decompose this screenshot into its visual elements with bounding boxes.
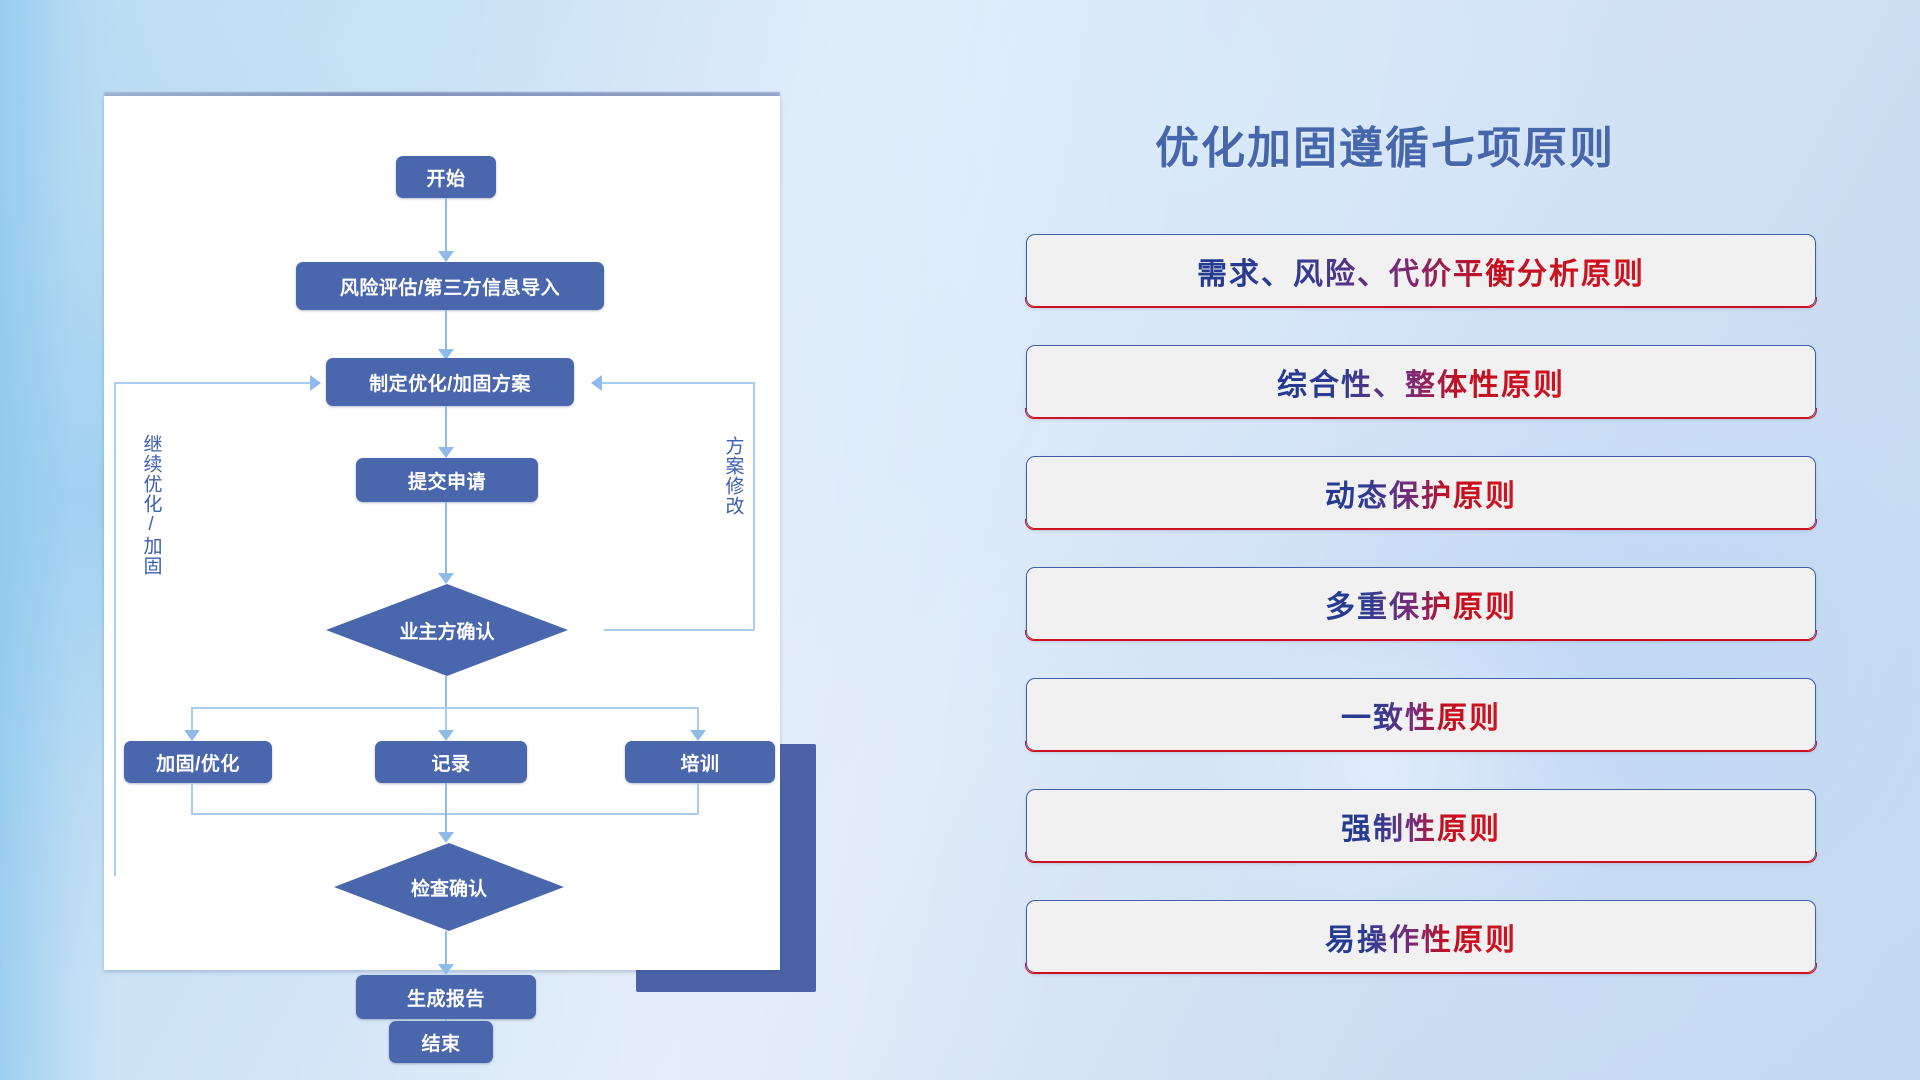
loop-right-vertical [753, 382, 755, 630]
node-record[interactable]: 记录 [375, 741, 527, 783]
principle-item-1[interactable]: 需求、风险、代价平衡分析原则 [1026, 234, 1816, 307]
principle-item-5[interactable]: 一致性原则 [1026, 678, 1816, 751]
principle-item-4[interactable]: 多重保护原则 [1026, 567, 1816, 640]
node-training[interactable]: 培训 [625, 741, 775, 783]
node-submit[interactable]: 提交申请 [356, 458, 538, 502]
arrowhead-down-3 [438, 447, 454, 458]
principle-item-3[interactable]: 动态保护原则 [1026, 456, 1816, 529]
arrowhead-down-4 [438, 573, 454, 584]
edge-submit-to-confirm [445, 502, 447, 580]
loop-right-bottom-horizontal [604, 629, 754, 631]
principle-label: 综合性、整体性原则 [1277, 360, 1565, 404]
panel-title: 优化加固遵循七项原则 [1155, 112, 1615, 176]
principle-label: 强制性原则 [1341, 804, 1501, 848]
merge-left-riser [191, 783, 193, 814]
principle-label: 易操作性原则 [1325, 915, 1517, 959]
principles-list: 需求、风险、代价平衡分析原则 综合性、整体性原则 动态保护原则 多重保护原则 一… [1026, 234, 1816, 1011]
node-start[interactable]: 开始 [396, 156, 496, 198]
node-plan[interactable]: 制定优化/加固方案 [326, 358, 574, 406]
arrowhead-down-branch-right [690, 730, 706, 741]
arrowhead-right-into-plan [310, 375, 321, 391]
edge-confirm-down [445, 676, 447, 708]
node-report[interactable]: 生成报告 [356, 975, 536, 1019]
loop-left-top-horizontal [114, 382, 310, 384]
edge-start-to-risk [445, 198, 447, 258]
flowchart-card: 开始 风险评估/第三方信息导入 制定优化/加固方案 继续优化/加固 方案修改 提… [104, 96, 780, 970]
merge-right-riser [697, 783, 699, 814]
node-owner-confirm[interactable]: 业主方确认 [326, 584, 568, 676]
arrowhead-down-branch-left [184, 730, 200, 741]
principle-item-2[interactable]: 综合性、整体性原则 [1026, 345, 1816, 418]
principle-label: 动态保护原则 [1325, 471, 1517, 515]
loop-right-top-horizontal [602, 382, 754, 384]
principle-label: 需求、风险、代价平衡分析原则 [1197, 249, 1645, 293]
principle-item-7[interactable]: 易操作性原则 [1026, 900, 1816, 973]
arrowhead-down-branch-mid [438, 730, 454, 741]
principle-label: 一致性原则 [1341, 693, 1501, 737]
node-reinforce[interactable]: 加固/优化 [124, 741, 272, 783]
background-left-wash [0, 0, 120, 1080]
arrowhead-down-1 [438, 251, 454, 262]
node-end[interactable]: 结束 [389, 1021, 493, 1063]
edge-merge-to-check [445, 783, 447, 839]
flowchart-canvas: 开始 风险评估/第三方信息导入 制定优化/加固方案 继续优化/加固 方案修改 提… [104, 96, 780, 970]
edge-label-right-loop: 方案修改 [722, 436, 743, 556]
arrowhead-down-6 [438, 964, 454, 975]
principle-label: 多重保护原则 [1325, 582, 1517, 626]
loop-left-vertical [114, 382, 116, 876]
arrowhead-left-into-plan [591, 375, 602, 391]
node-risk-assessment[interactable]: 风险评估/第三方信息导入 [296, 262, 604, 310]
node-check-confirm[interactable]: 检查确认 [334, 843, 564, 931]
principle-item-6[interactable]: 强制性原则 [1026, 789, 1816, 862]
edge-label-left-loop: 继续优化/加固 [140, 434, 161, 594]
arrowhead-down-5 [438, 832, 454, 843]
